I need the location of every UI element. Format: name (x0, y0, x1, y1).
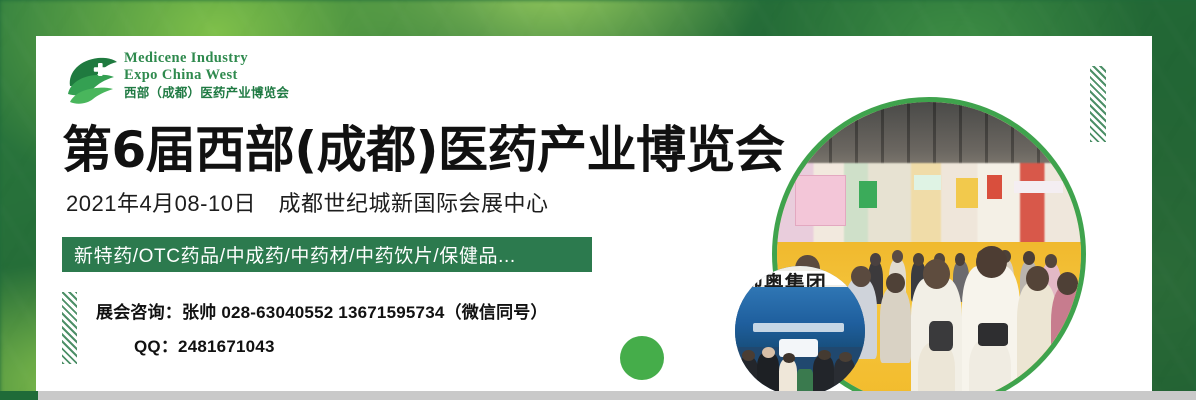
logo-line-cn: 西部（成都）医药产业博览会 (124, 85, 280, 101)
logo-text-block: Medicene Industry Expo China West 西部（成都）… (124, 50, 280, 101)
logo-line-en-1: Medicene Industry (124, 50, 280, 67)
category-banner-text: 新特药/OTC药品/中成药/中药材/中药饮片/保健品... (62, 241, 516, 268)
brand-logo[interactable]: Medicene Industry Expo China West 西部（成都）… (64, 50, 278, 108)
event-title: 第6届西部(成都)医药产业博览会 (62, 122, 785, 178)
category-banner: 新特药/OTC药品/中成药/中药材/中药饮片/保健品... (62, 237, 592, 272)
green-circle-decoration (620, 336, 664, 380)
contact-block: 展会咨询：张帅 028-63040552 13671595734（微信同号） Q… (96, 300, 548, 360)
contact-phone-line: 展会咨询：张帅 028-63040552 13671595734（微信同号） (96, 300, 548, 326)
bottom-grey-strip (0, 391, 1196, 400)
exhibitor-booth-photo: 地奥集团 (735, 266, 865, 396)
leaf-cross-logo-icon (64, 52, 120, 106)
logo-line-en-2: Expo China West (124, 67, 280, 84)
hatched-bar-right-decoration (1090, 66, 1106, 142)
contact-qq-line: QQ：2481671043 (96, 334, 548, 360)
poster-stage: Medicene Industry Expo China West 西部（成都）… (0, 0, 1196, 400)
bottom-green-strip (0, 391, 38, 400)
event-date-venue: 2021年4月08-10日 成都世纪城新国际会展中心 (66, 190, 548, 218)
hatched-bar-left-decoration (62, 292, 77, 364)
